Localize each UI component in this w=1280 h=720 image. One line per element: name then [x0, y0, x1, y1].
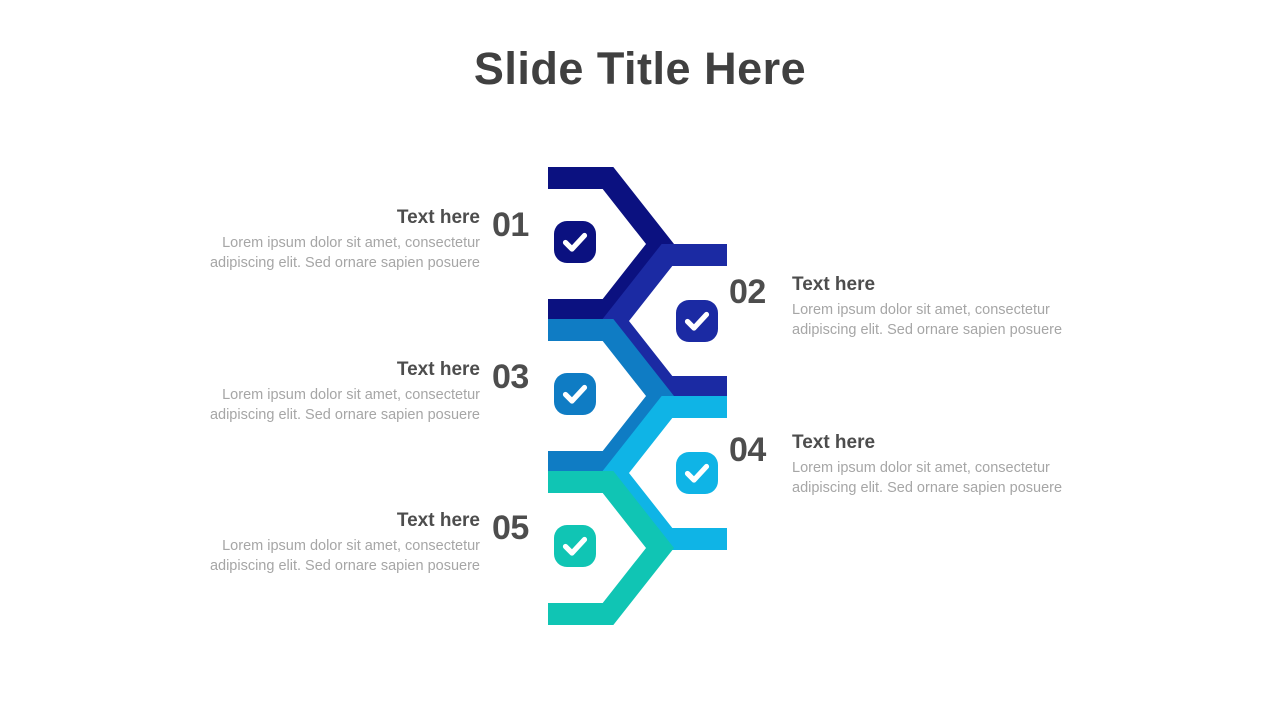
item-text-block-04: Text here Lorem ipsum dolor sit amet, co…: [792, 431, 1092, 498]
item-body-04: Lorem ipsum dolor sit amet, consectetur …: [792, 459, 1092, 498]
item-number-02: 02: [729, 273, 766, 311]
item-number-05: 05: [492, 509, 529, 547]
item-number-03: 03: [492, 358, 529, 396]
item-number-01: 01: [492, 206, 529, 244]
item-body-03: Lorem ipsum dolor sit amet, consectetur …: [180, 386, 480, 425]
item-text-block-01: Text here Lorem ipsum dolor sit amet, co…: [180, 206, 480, 273]
check-badge-icon-04[interactable]: [676, 452, 718, 494]
check-badge-icon-02[interactable]: [676, 300, 718, 342]
slide-canvas: Slide Title Here: [0, 0, 1280, 720]
item-text-block-03: Text here Lorem ipsum dolor sit amet, co…: [180, 358, 480, 425]
item-heading-02: Text here: [792, 273, 1092, 297]
item-body-05: Lorem ipsum dolor sit amet, consectetur …: [180, 537, 480, 576]
item-text-block-05: Text here Lorem ipsum dolor sit amet, co…: [180, 509, 480, 576]
check-badge-icon-03[interactable]: [554, 373, 596, 415]
item-number-04: 04: [729, 431, 766, 469]
item-heading-03: Text here: [180, 358, 480, 382]
item-text-block-02: Text here Lorem ipsum dolor sit amet, co…: [792, 273, 1092, 340]
page-title: Slide Title Here: [0, 40, 1280, 98]
item-heading-04: Text here: [792, 431, 1092, 455]
item-body-02: Lorem ipsum dolor sit amet, consectetur …: [792, 301, 1092, 340]
check-badge-icon-05[interactable]: [554, 525, 596, 567]
item-heading-05: Text here: [180, 509, 480, 533]
item-body-01: Lorem ipsum dolor sit amet, consectetur …: [180, 234, 480, 273]
item-heading-01: Text here: [180, 206, 480, 230]
check-badge-icon-01[interactable]: [554, 221, 596, 263]
